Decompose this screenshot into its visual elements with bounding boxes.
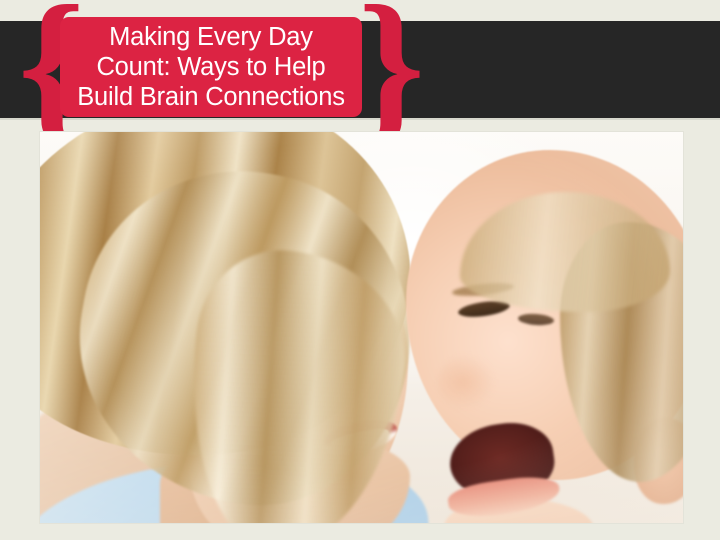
title-line-1: Making Every Day xyxy=(109,23,313,51)
title-line-3: Build Brain Connections xyxy=(77,83,345,111)
title-line-2: Count: Ways to Help xyxy=(96,53,325,81)
page-title: Making Every Day Count: Ways to Help Bui… xyxy=(52,22,370,112)
title-block: { Making Every Day Count: Ways to Help B… xyxy=(0,0,420,132)
right-curly-brace-icon: } xyxy=(358,6,425,124)
photo-image xyxy=(40,132,683,523)
photo-frame xyxy=(40,132,683,523)
slide-canvas: { Making Every Day Count: Ways to Help B… xyxy=(0,0,720,540)
